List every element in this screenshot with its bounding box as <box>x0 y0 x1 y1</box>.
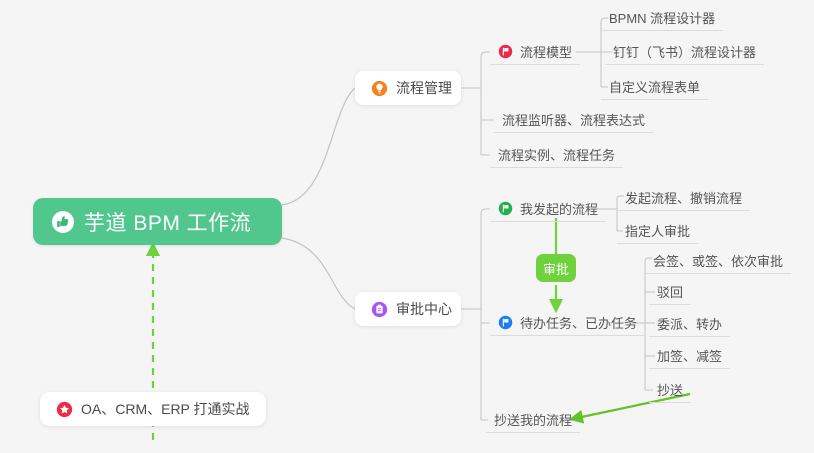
node-process-model[interactable]: 流程模型 <box>490 39 580 65</box>
node-dingtalk-designer[interactable]: 钉钉（飞书）流程设计器 <box>605 39 764 65</box>
node-label: 驳回 <box>657 282 683 301</box>
node-reject[interactable]: 驳回 <box>649 279 691 305</box>
callout-node-integration[interactable]: OA、CRM、ERP 打通实战 <box>40 392 266 426</box>
branch-label: 审批中心 <box>396 299 452 319</box>
node-label: 流程监听器、流程表达式 <box>502 110 645 129</box>
node-start-cancel-process[interactable]: 发起流程、撤销流程 <box>617 185 750 211</box>
clipboard-icon <box>371 301 388 318</box>
node-bpmn-designer[interactable]: BPMN 流程设计器 <box>601 5 723 31</box>
flag-icon <box>498 44 513 59</box>
node-add-remove-sign[interactable]: 加签、减签 <box>649 343 730 369</box>
node-my-initiated-process[interactable]: 我发起的流程 <box>490 196 606 222</box>
node-label: BPMN 流程设计器 <box>609 8 715 27</box>
node-carbon-copy[interactable]: 抄送 <box>649 377 691 403</box>
star-icon <box>56 401 73 418</box>
node-label: 抄送我的流程 <box>494 410 572 429</box>
node-todo-done-tasks[interactable]: 待办任务、已办任务 <box>490 310 645 336</box>
root-label: 芋道 BPM 工作流 <box>84 207 251 237</box>
node-label: 指定人审批 <box>625 221 690 240</box>
mindmap-canvas: 芋道 BPM 工作流 流程管理 流程模型 流程监听器、流程表达式 流程实例、流 <box>0 0 814 453</box>
branch-label: 流程管理 <box>396 78 452 98</box>
node-label: 流程实例、流程任务 <box>498 145 615 164</box>
node-label: 发起流程、撤销流程 <box>625 188 742 207</box>
node-label: 钉钉（飞书）流程设计器 <box>613 42 756 61</box>
root-node[interactable]: 芋道 BPM 工作流 <box>33 198 282 245</box>
node-designated-approval[interactable]: 指定人审批 <box>617 218 698 244</box>
node-label: 会签、或签、依次审批 <box>653 251 783 270</box>
node-label: 我发起的流程 <box>520 199 598 218</box>
flag-icon <box>498 315 513 330</box>
node-cc-to-me-process[interactable]: 抄送我的流程 <box>486 407 580 433</box>
node-label: 自定义流程表单 <box>609 77 700 96</box>
approve-arrow-tag: 审批 <box>536 254 576 282</box>
node-label: 抄送 <box>657 380 683 399</box>
branch-node-approval-center[interactable]: 审批中心 <box>355 292 461 326</box>
node-label: 待办任务、已办任务 <box>520 313 637 332</box>
node-delegate-transfer[interactable]: 委派、转办 <box>649 311 730 337</box>
flag-icon <box>498 201 513 216</box>
node-custom-form[interactable]: 自定义流程表单 <box>601 74 708 100</box>
callout-label: OA、CRM、ERP 打通实战 <box>81 399 250 419</box>
thumbs-up-icon <box>51 210 75 234</box>
branch-node-process-management[interactable]: 流程管理 <box>355 71 461 105</box>
node-process-instance[interactable]: 流程实例、流程任务 <box>490 142 623 168</box>
approve-arrow-tag-label: 审批 <box>543 259 569 278</box>
node-label: 流程模型 <box>520 42 572 61</box>
node-countersign[interactable]: 会签、或签、依次审批 <box>645 248 791 274</box>
node-label: 加签、减签 <box>657 346 722 365</box>
node-process-listener[interactable]: 流程监听器、流程表达式 <box>494 107 653 133</box>
lightbulb-icon <box>371 80 388 97</box>
node-label: 委派、转办 <box>657 314 722 333</box>
